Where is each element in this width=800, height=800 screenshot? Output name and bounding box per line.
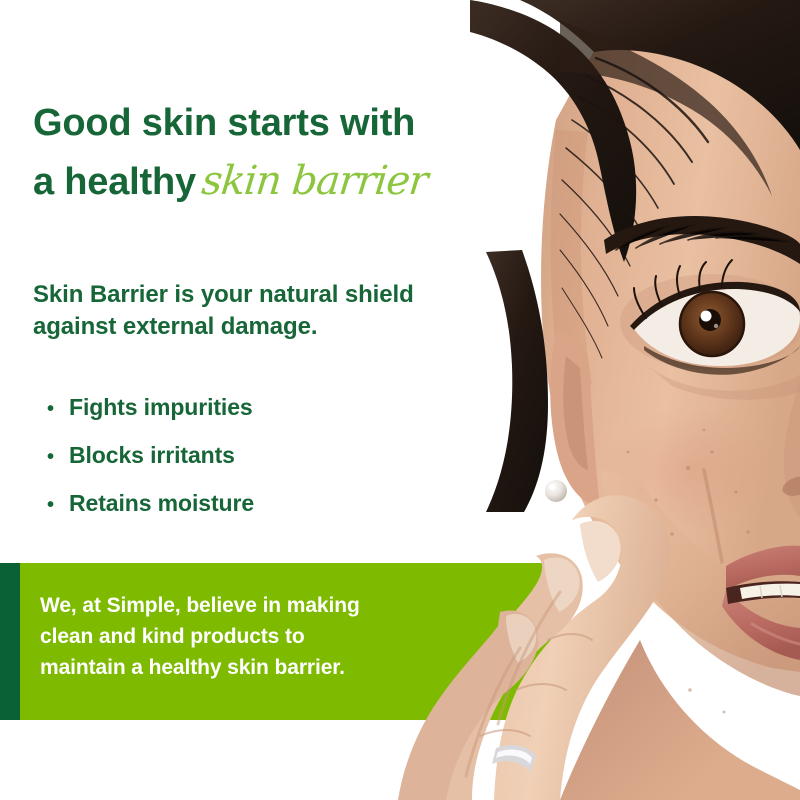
pearl-highlight [549, 484, 555, 490]
subheading: Skin Barrier is your natural shield agai… [33, 279, 483, 343]
bullet-icon: • [47, 399, 69, 419]
eye-catchlight [701, 311, 712, 322]
poster-canvas: Good skin starts with a healthyskin barr… [0, 0, 800, 800]
banner-message: We, at Simple, believe in making clean a… [40, 590, 510, 683]
pearl-earring [545, 480, 567, 502]
benefit-label: Fights impurities [69, 394, 253, 421]
benefit-label: Blocks irritants [69, 442, 235, 469]
headline-script-emphasis: skin barrier [193, 152, 430, 211]
brand-message-banner: We, at Simple, believe in making clean a… [0, 563, 551, 720]
benefit-label: Retains moisture [69, 490, 254, 517]
subhead-line-2: against external damage. [33, 311, 483, 343]
list-item: • Blocks irritants [47, 442, 254, 490]
subhead-line-1: Skin Barrier is your natural shield [33, 279, 483, 311]
headline-line-2: a healthyskin barrier [33, 152, 503, 211]
banner-accent-stripe [0, 563, 20, 720]
eye-catchlight-small [714, 324, 718, 328]
banner-line-1: We, at Simple, believe in making [40, 590, 510, 621]
page-headline: Good skin starts with a healthyskin barr… [33, 96, 503, 211]
list-item: • Fights impurities [47, 394, 254, 442]
list-item: • Retains moisture [47, 490, 254, 538]
bullet-icon: • [47, 495, 69, 515]
banner-line-2: clean and kind products to [40, 621, 510, 652]
headline-line-2-plain: a healthy [33, 161, 196, 203]
bullet-icon: • [47, 447, 69, 467]
headline-line-1: Good skin starts with [33, 96, 503, 152]
banner-line-3: maintain a healthy skin barrier. [40, 652, 510, 683]
cheek-blush [604, 406, 776, 534]
benefits-list: • Fights impurities • Blocks irritants •… [47, 394, 254, 538]
